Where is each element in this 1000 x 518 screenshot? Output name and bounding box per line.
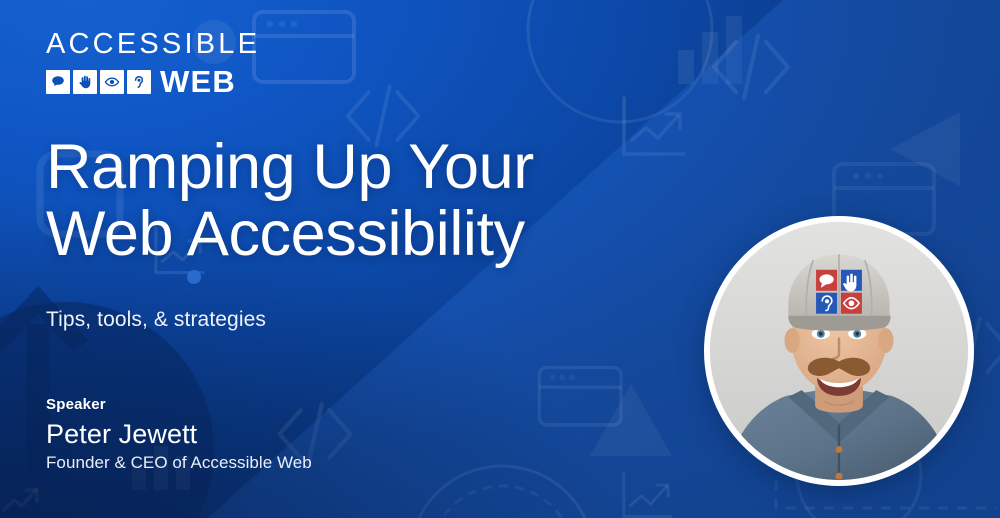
line-chart-icon (610, 466, 682, 518)
logo-word-web: WEB (160, 66, 236, 97)
trend-arrow-icon (2, 482, 42, 518)
webinar-title-card: ACCESSIBLE (0, 0, 1000, 518)
title-line-1: Ramping Up Your (46, 134, 534, 201)
dot-shape (185, 268, 203, 286)
speaker-photo (710, 222, 968, 480)
dashed-circle-shape (402, 458, 602, 518)
triangle-shape (586, 376, 676, 462)
eye-icon (100, 70, 124, 94)
speech-bubble-icon (46, 70, 70, 94)
line-chart-icon (614, 90, 690, 166)
circle-shape (520, 0, 720, 130)
code-brackets-icon (706, 28, 796, 106)
logo-icon-tiles (46, 70, 151, 94)
accessible-web-logo: ACCESSIBLE (46, 30, 260, 97)
logo-word-accessible: ACCESSIBLE (46, 30, 260, 59)
ear-icon (127, 70, 151, 94)
triangle-shape (884, 104, 974, 194)
speaker-name: Peter Jewett (46, 419, 312, 450)
speaker-role: Founder & CEO of Accessible Web (46, 453, 312, 473)
speaker-label: Speaker (46, 396, 312, 413)
title-line-2: Web Accessibility (46, 201, 534, 268)
browser-window-icon (250, 8, 360, 88)
speaker-block: Speaker Peter Jewett Founder & CEO of Ac… (46, 396, 312, 473)
browser-window-icon (536, 358, 626, 436)
hand-icon (73, 70, 97, 94)
page-title: Ramping Up Your Web Accessibility (46, 134, 534, 269)
speaker-portrait (704, 216, 974, 486)
bar-chart-icon (672, 14, 762, 84)
subtitle: Tips, tools, & strategies (46, 308, 266, 332)
